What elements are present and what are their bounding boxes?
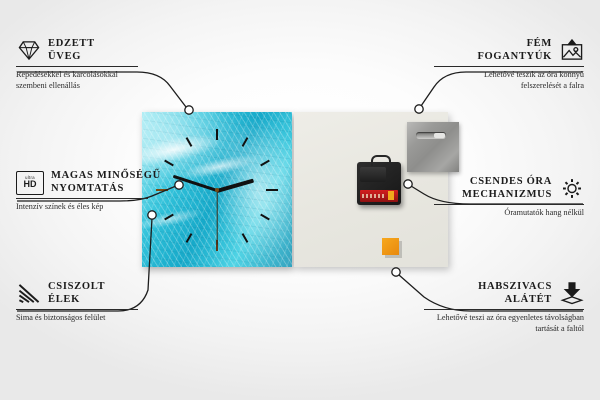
callout-title-line2: ÜVEG [48, 51, 95, 64]
callout-divider [434, 66, 584, 67]
accessory-panel [294, 112, 448, 267]
hour-tick [266, 189, 278, 191]
callout-description: Sima és biztonságos felület [16, 313, 146, 324]
callout-metal-handles: FÉM FOGANTYÚK Lehetővé teszik az óra kön… [434, 38, 584, 91]
callout-tempered-glass: EDZETT ÜVEG Repedésekkel és karcolásokka… [16, 38, 166, 91]
callout-description: Óramutatók hang nélkül [444, 208, 584, 219]
callout-divider [424, 309, 584, 310]
battery [360, 190, 398, 202]
clock-center-pin [215, 188, 219, 192]
callout-polished-edges: CSISZOLT ÉLEK Sima és biztonságos felüle… [16, 281, 166, 324]
callout-description: Lehetővé teszik az óra könnyű felszerelé… [458, 70, 584, 91]
callout-title-line1: MAGAS MINŐSÉGŰ [51, 170, 161, 183]
clock-mechanism [357, 162, 401, 205]
callout-divider [16, 309, 138, 310]
callout-title-line2: MECHANIZMUS [462, 189, 552, 202]
gear-icon [559, 177, 584, 200]
battery-label-stripe [362, 194, 386, 198]
ultra-hd-badge-main-text: HD [24, 180, 37, 189]
callout-description: Intenzív színek és éles kép [16, 202, 156, 213]
callout-description: Lehetővé teszi az óra egyenletes távolsá… [432, 313, 584, 334]
callout-divider [16, 66, 138, 67]
foam-spacer-pad [382, 238, 399, 255]
callout-title-line1: EDZETT [48, 38, 95, 51]
callout-divider [434, 204, 584, 205]
callout-high-quality-print: ultra HD MAGAS MINŐSÉGŰ NYOMTATÁS Intenz… [16, 170, 176, 213]
callout-title-line2: NYOMTATÁS [51, 183, 161, 196]
callout-title-line2: FOGANTYÚK [477, 51, 552, 64]
metal-hanger-plate [407, 122, 459, 172]
callout-title-line1: FÉM [477, 38, 552, 51]
callout-title-line2: ÉLEK [48, 294, 105, 307]
diamond-icon [16, 39, 41, 62]
hanger-slot [416, 132, 446, 139]
callout-foam-pad: HABSZIVACS ALÁTÉT Lehetővé teszi az óra … [424, 281, 584, 334]
callout-title-line1: CSISZOLT [48, 281, 105, 294]
product-image [142, 112, 448, 267]
mechanism-hanger-loop [371, 155, 391, 166]
callout-title-line1: CSENDES ÓRA [462, 176, 552, 189]
second-hand [216, 191, 217, 245]
foam-pad-icon [559, 282, 584, 305]
picture-hanger-icon [559, 39, 584, 62]
mechanism-housing-ridge [360, 167, 386, 182]
polished-edges-icon [16, 282, 41, 305]
callout-title-line1: HABSZIVACS [478, 281, 552, 294]
ultra-hd-badge-icon: ultra HD [16, 171, 44, 195]
callout-divider [16, 198, 148, 199]
callout-silent-mechanism: CSENDES ÓRA MECHANIZMUS Óramutatók hang … [434, 176, 584, 219]
hour-tick [216, 129, 218, 140]
callout-description: Repedésekkel és karcolásokkal szembeni e… [16, 70, 136, 91]
infographic-canvas: EDZETT ÜVEG Repedésekkel és karcolásokka… [0, 0, 600, 400]
callout-title-line2: ALÁTÉT [478, 294, 552, 307]
